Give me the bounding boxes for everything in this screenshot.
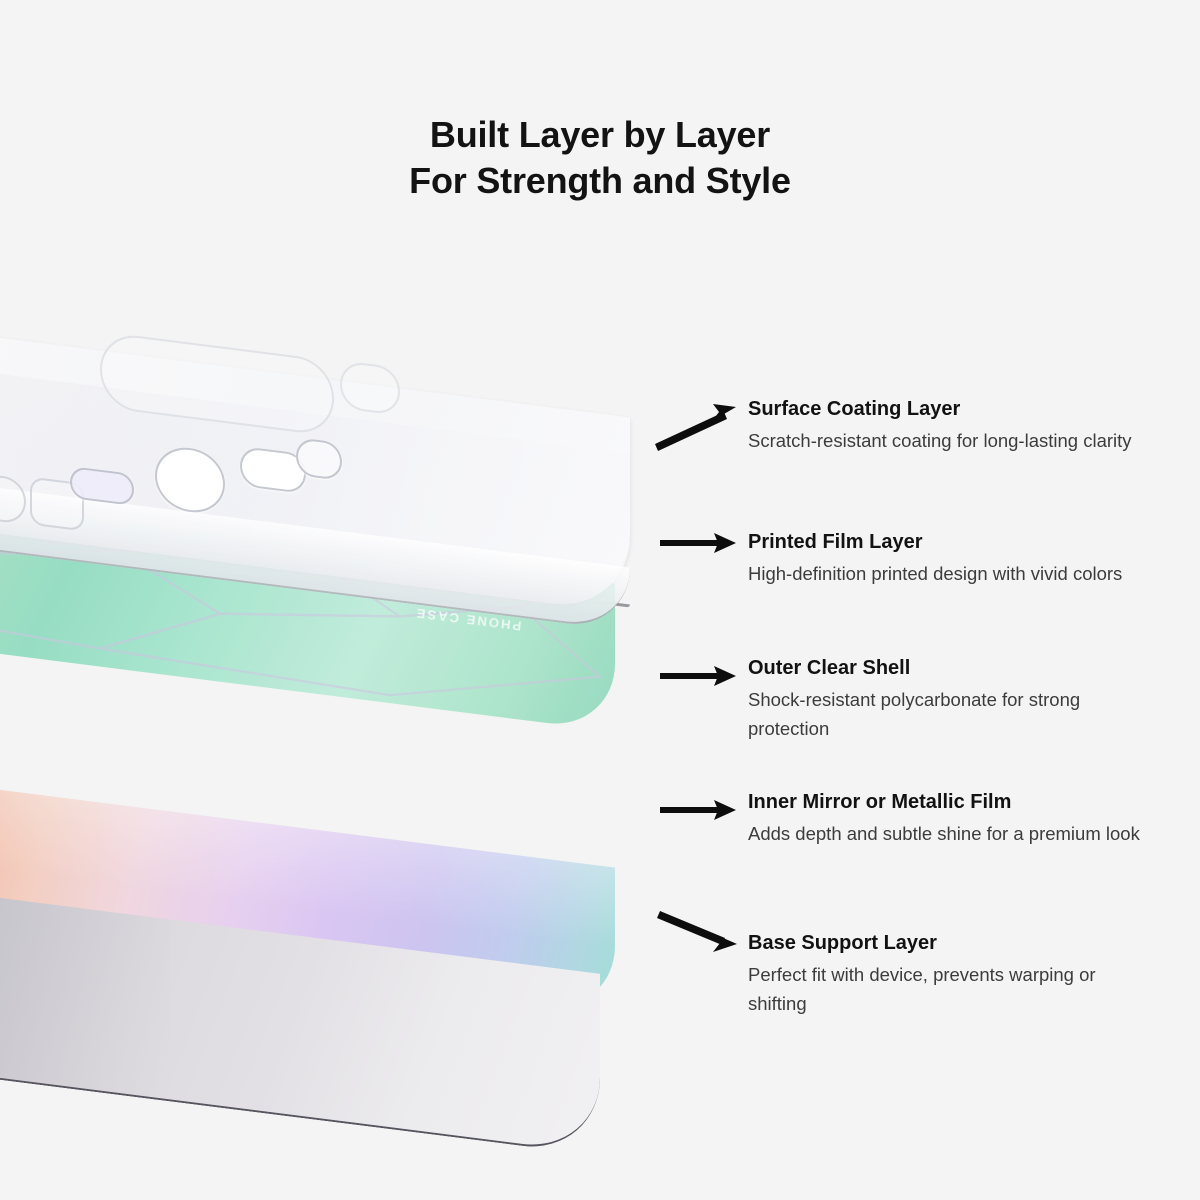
infographic-canvas: Built Layer by Layer For Strength and St… (0, 0, 1200, 1200)
callout-description: Adds depth and subtle shine for a premiu… (748, 819, 1140, 848)
callout-description: Scratch-resistant coating for long-lasti… (748, 426, 1132, 455)
arrow-right-icon-4 (660, 800, 736, 820)
callout-printed-film: Printed Film Layer High-definition print… (748, 529, 1122, 588)
callout-title: Inner Mirror or Metallic Film (748, 789, 1140, 815)
callout-arrows (0, 0, 1200, 1200)
callout-inner-mirror-film: Inner Mirror or Metallic Film Adds depth… (748, 789, 1140, 848)
callout-description: Perfect fit with device, prevents warpin… (748, 960, 1148, 1018)
callout-title: Outer Clear Shell (748, 655, 1148, 681)
arrow-down-right-icon (657, 911, 737, 952)
arrow-up-right-icon (655, 404, 736, 451)
callout-title: Base Support Layer (748, 930, 1148, 956)
callout-base-support: Base Support Layer Perfect fit with devi… (748, 930, 1148, 1018)
callout-description: Shock-resistant polycarbonate for strong… (748, 685, 1148, 743)
callout-outer-clear-shell: Outer Clear Shell Shock-resistant polyca… (748, 655, 1148, 743)
callout-title: Printed Film Layer (748, 529, 1122, 555)
arrow-right-icon-2 (660, 533, 736, 553)
callout-surface-coating: Surface Coating Layer Scratch-resistant … (748, 396, 1132, 455)
arrow-right-icon-3 (660, 666, 736, 686)
callout-title: Surface Coating Layer (748, 396, 1132, 422)
callout-description: High-definition printed design with vivi… (748, 559, 1122, 588)
